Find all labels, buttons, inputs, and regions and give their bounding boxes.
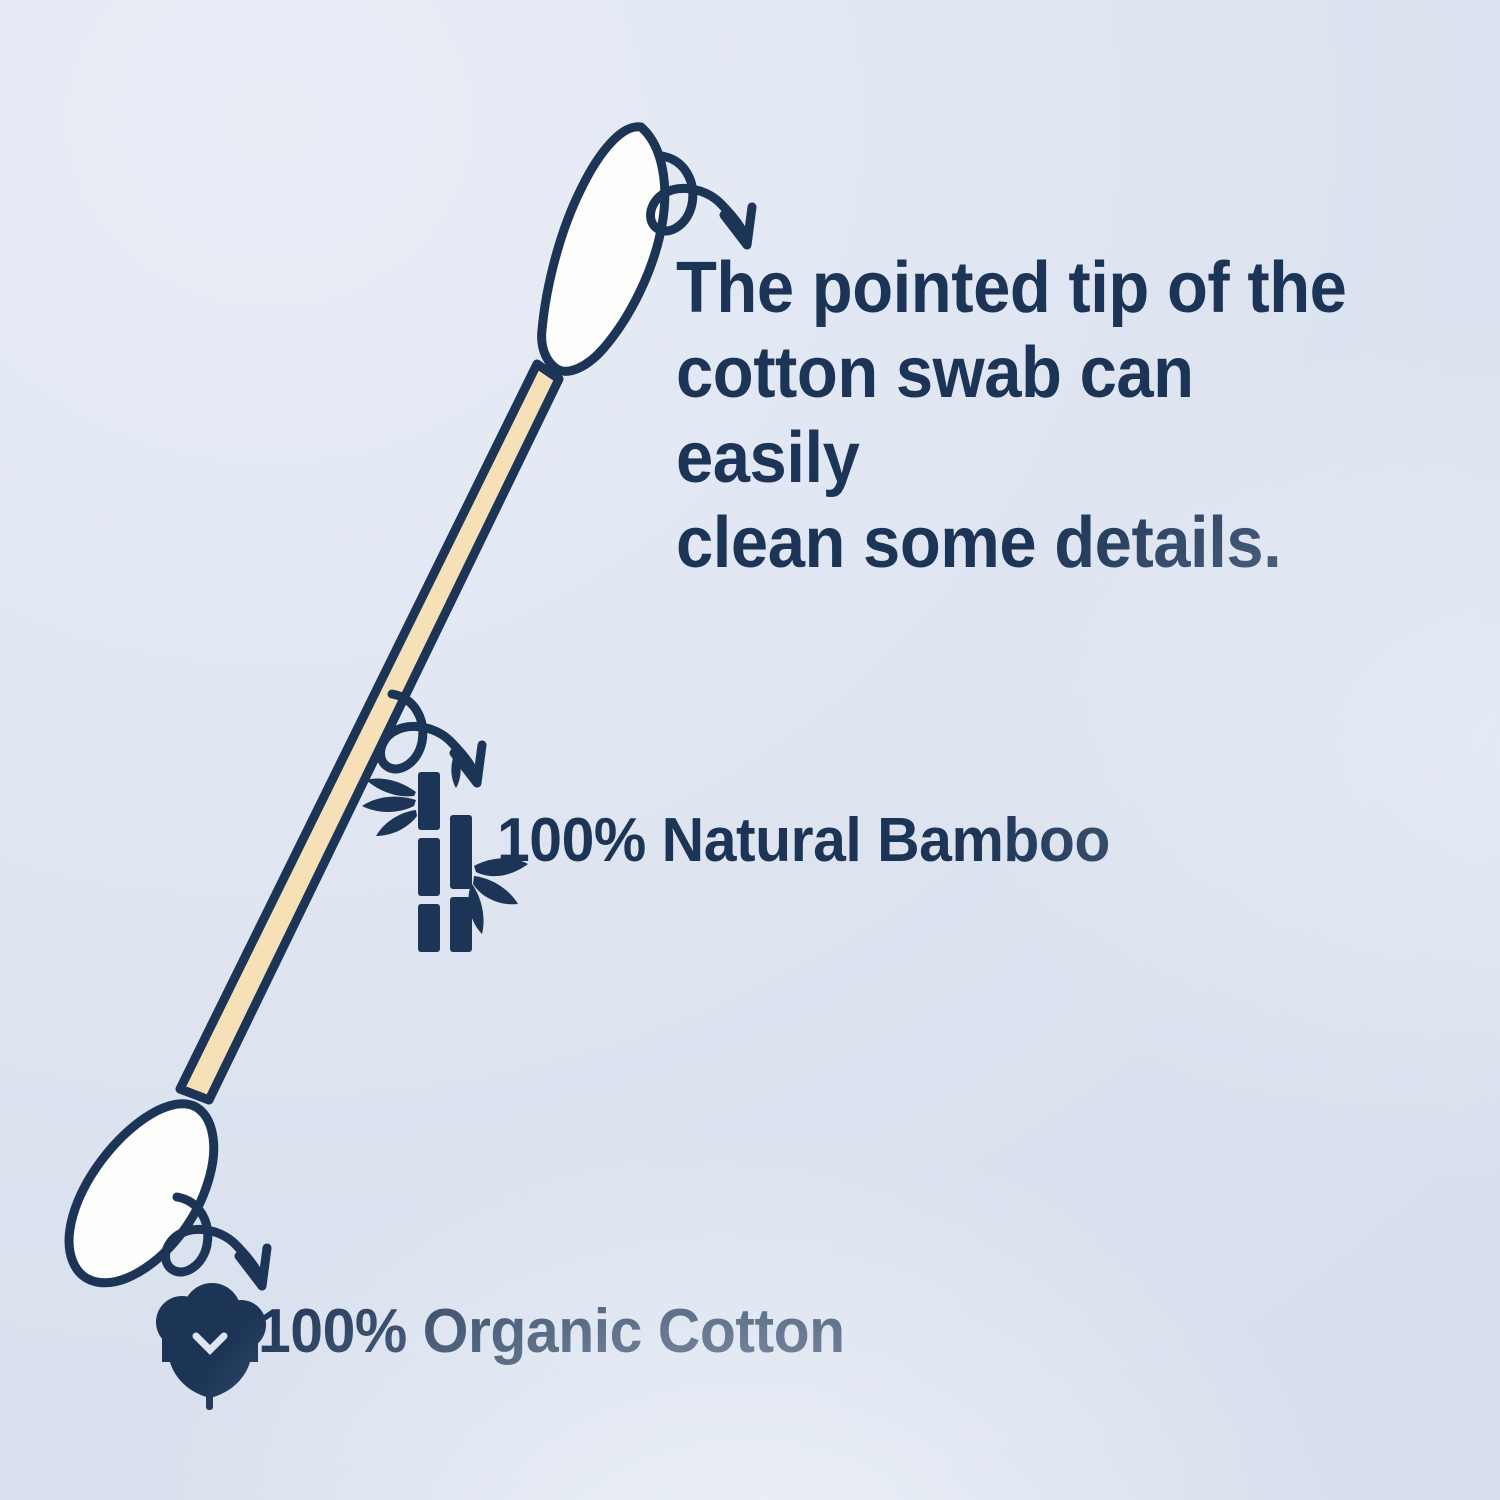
feature-label-cotton: 100% Organic Cotton <box>258 1299 845 1365</box>
swab-illustration <box>0 0 1500 1500</box>
infographic-canvas: The pointed tip of the cotton swab can e… <box>0 0 1500 1500</box>
bamboo-shaft <box>180 364 559 1100</box>
pointed-cotton-tip <box>542 127 665 371</box>
cotton-boll-icon <box>156 1283 266 1410</box>
rounded-cotton-bud <box>69 1104 214 1283</box>
feature-label-bamboo: 100% Natural Bamboo <box>497 808 1110 874</box>
headline-text: The pointed tip of the cotton swab can e… <box>676 246 1364 586</box>
